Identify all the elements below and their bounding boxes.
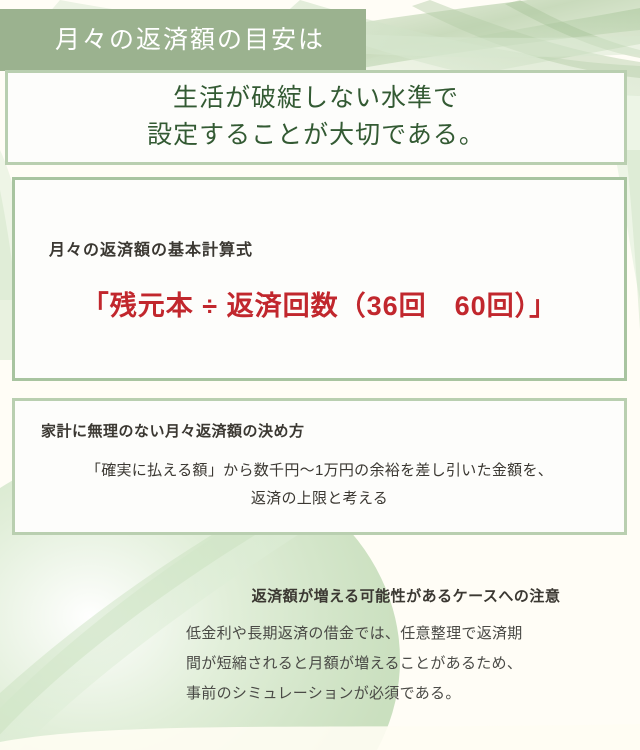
note-line-1: 低金利や長期返済の借金では、任意整理で返済期 [186,619,626,649]
lead-line-1: 生活が破綻しない水準で [173,81,459,117]
rule-panel-heading: 家計に無理のない月々返済額の決め方 [41,420,608,441]
formula-expression: 「残元本 ÷ 返済回数（36回 60回）」 [37,284,602,323]
note-line-2: 間が短縮されると月額が増えることがあるため、 [186,649,626,679]
rule-line-2: 返済の上限と考える [31,485,608,513]
header-label-text: 月々の返済額の目安は [55,28,325,53]
header-label-bar: 月々の返済額の目安は [0,9,366,71]
lead-statement-panel: 生活が破綻しない水準で 設定することが大切である。 [5,70,627,165]
lead-line-2: 設定することが大切である。 [147,118,485,154]
formula-panel-heading: 月々の返済額の基本計算式 [49,236,602,260]
note-block-heading: 返済額が増える可能性があるケースへの注意 [186,585,626,606]
formula-panel: 月々の返済額の基本計算式 「残元本 ÷ 返済回数（36回 60回）」 [12,177,627,381]
rule-line-1: 「確実に払える額」から数千円〜1万円の余裕を差し引いた金額を、 [31,457,608,485]
note-block: 返済額が増える可能性があるケースへの注意 低金利や長期返済の借金では、任意整理で… [186,585,626,709]
note-line-3: 事前のシミュレーションが必須である。 [186,679,626,709]
rule-panel: 家計に無理のない月々返済額の決め方 「確実に払える額」から数千円〜1万円の余裕を… [12,398,627,535]
slide-canvas: 月々の返済額の目安は 生活が破綻しない水準で 設定することが大切である。 月々の… [0,0,640,750]
